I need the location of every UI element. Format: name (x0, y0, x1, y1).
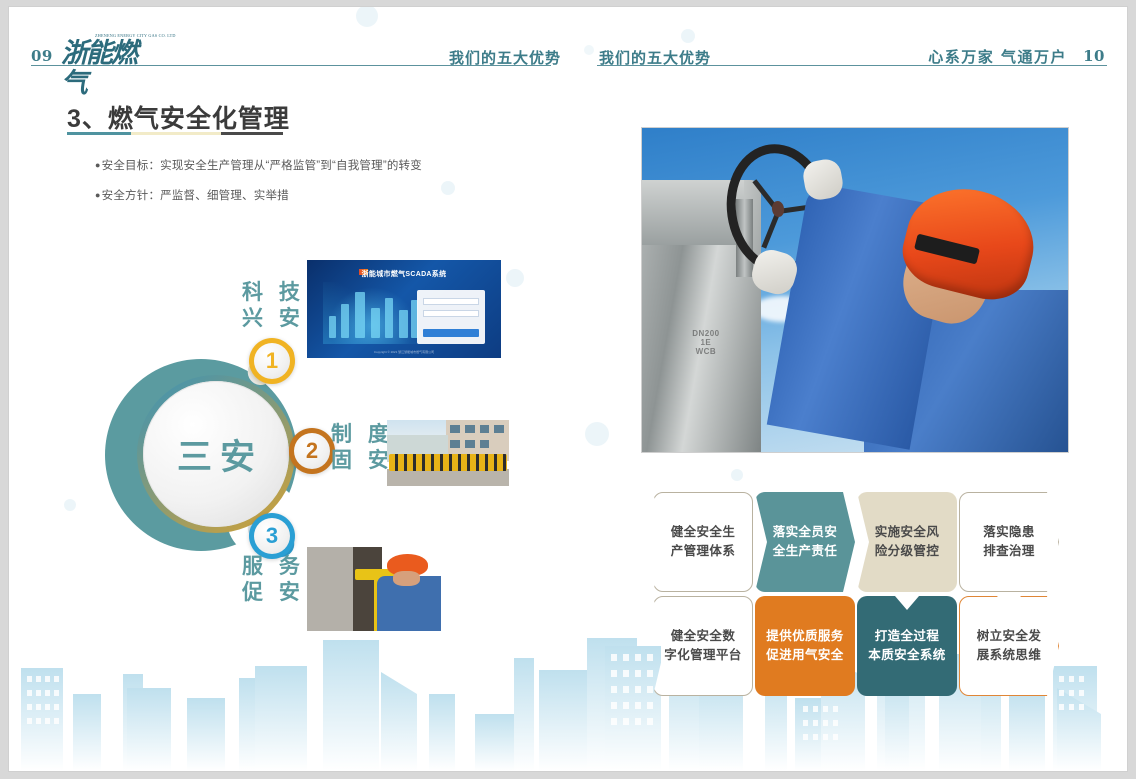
login-button[interactable] (423, 329, 479, 337)
photo-window (450, 440, 460, 448)
photo-face (393, 571, 420, 586)
decor-circle (585, 422, 609, 446)
flow-box-line1: 树立安全发 (977, 627, 1042, 646)
scada-caption: 浙能城市燃气SCADA系统 (307, 269, 501, 279)
photo-window (480, 425, 490, 433)
photo-window (494, 425, 504, 433)
page-number-left: 09 (31, 47, 53, 65)
worker-operating-valve-wheel-photo: DN200 1E WCB (641, 127, 1069, 453)
photo-window (465, 440, 475, 448)
label-line: 促 安 (242, 580, 305, 606)
label-line: 兴 安 (242, 306, 305, 332)
service-scooters-fleet-photo (387, 420, 509, 486)
username-field[interactable] (423, 298, 479, 305)
node-number: 1 (266, 348, 278, 374)
diagram-inner-ring: 三安 (137, 375, 295, 533)
flow-box-r2c1[interactable]: 健全安全数 字化管理平台 (653, 596, 753, 696)
login-card[interactable] (417, 290, 485, 344)
decor-circle (441, 181, 455, 195)
slide-page: ZHENENG ENERGY CITY GAS CO. LTD 浙能燃气 09 … (8, 6, 1128, 772)
decor-circle (731, 469, 743, 481)
decor-circle (356, 6, 378, 27)
decor-circle (64, 499, 76, 511)
page-number-right: 10 (1083, 47, 1105, 65)
flow-box-line2: 险分级管控 (875, 542, 940, 561)
flow-box-line1: 健全安全数 (671, 627, 736, 646)
photo-wheel-hub (771, 200, 785, 217)
title-underline-segment-2 (131, 132, 221, 135)
logo-chinese-text: 浙能燃气 (61, 39, 151, 99)
decor-circle (506, 269, 524, 287)
label-line: 服 务 (242, 554, 305, 580)
bullet-item: ●安全目标：实现安全生产管理从“严格监管”到“自我管理”的转变 (95, 157, 422, 173)
label-line: 制 度 (331, 422, 394, 448)
diagram-center-label: 三安 (169, 429, 263, 480)
worker-inspecting-gas-meter-photo (307, 547, 441, 631)
bullet-marker-icon: ● (95, 190, 101, 200)
diagram-node-1[interactable]: 1 (249, 338, 295, 384)
photo-window (465, 425, 475, 433)
flow-box-line1: 落实全员安 (773, 523, 838, 542)
flow-box-line2: 本质安全系统 (868, 646, 945, 665)
header-slogan: 心系万家 气通万户 (928, 46, 1067, 67)
flow-box-r2c2[interactable]: 提供优质服务 促进用气安全 (755, 596, 855, 696)
flow-box-r1c3[interactable]: 实施安全风 险分级管控 (857, 492, 957, 592)
flow-box-line2: 展系统思维 (977, 646, 1042, 665)
flow-box-r1c2[interactable]: 落实全员安 全生产责任 (755, 492, 855, 592)
flow-box-line2: 全生产责任 (773, 542, 838, 561)
diagram-label-2: 制 度 固 安 (331, 422, 394, 474)
bullet-item: ●安全方针：严监督、细管理、实举措 (95, 187, 289, 203)
flow-box-line1: 提供优质服务 (766, 627, 843, 646)
node-number: 3 (266, 523, 278, 549)
photo-scooter-row (389, 454, 506, 471)
scada-login-screenshot: 浙能城市燃气SCADA系统 Copyright © 2021 浙江浙能城市燃气有… (307, 260, 501, 358)
section-title: 3、燃气安全化管理 (67, 99, 290, 135)
diagram-label-1: 科 技 兴 安 (242, 280, 305, 332)
title-underline-segment-3 (221, 132, 283, 135)
flow-box-line2: 产管理体系 (671, 542, 736, 561)
company-logo: ZHENENG ENERGY CITY GAS CO. LTD 浙能燃气 (61, 35, 151, 69)
bullet-text: 安全目标：实现安全生产管理从“严格监管”到“自我管理”的转变 (102, 160, 422, 172)
flow-box-r2c4[interactable]: 树立安全发 展系统思维 (959, 596, 1059, 696)
photo-window (450, 425, 460, 433)
header-title-right: 我们的五大优势 (599, 47, 711, 68)
flow-box-line1: 落实隐患 (983, 523, 1035, 542)
diagram-node-2[interactable]: 2 (289, 428, 335, 474)
diagram-center-disc: 三安 (143, 381, 289, 527)
photo-wall (307, 547, 353, 631)
title-underline-segment-1 (67, 132, 131, 135)
photo-window (480, 440, 490, 448)
diagram-node-3[interactable]: 3 (249, 513, 295, 559)
flow-box-line2: 促进用气安全 (766, 646, 843, 665)
bullet-marker-icon: ● (95, 160, 101, 170)
flow-box-line1: 健全安全生 (671, 523, 736, 542)
diagram-label-3: 服 务 促 安 (242, 554, 305, 606)
flow-box-line2: 排查治理 (983, 542, 1035, 561)
node-number: 2 (306, 438, 318, 464)
label-line: 固 安 (331, 448, 394, 474)
password-field[interactable] (423, 310, 479, 317)
flow-box-r1c4[interactable]: 落实隐患 排查治理 (959, 492, 1059, 592)
bullet-text: 安全方针：严监督、细管理、实举措 (102, 190, 289, 202)
photo-ground (387, 469, 509, 486)
photo-valve-marking: DN200 1E WCB (659, 329, 753, 356)
flow-box-r1c1[interactable]: 健全安全生 产管理体系 (653, 492, 753, 592)
flow-box-r2c3[interactable]: 打造全过程 本质安全系统 (857, 596, 957, 696)
flow-box-line2: 字化管理平台 (664, 646, 741, 665)
header-title-left: 我们的五大优势 (449, 47, 561, 68)
flow-box-line1: 实施安全风 (875, 523, 940, 542)
safety-management-flowchart: 健全安全生 产管理体系 落实全员安 全生产责任 实施安全风 险分级管控 落实隐患… (653, 492, 1063, 697)
scada-footer-text: Copyright © 2021 浙江浙能城市燃气有限公司 (307, 350, 501, 354)
decor-circle (584, 45, 594, 55)
label-line: 科 技 (242, 280, 305, 306)
flow-box-line1: 打造全过程 (875, 627, 940, 646)
isometric-illustration (323, 282, 421, 344)
decor-circle (681, 29, 695, 43)
